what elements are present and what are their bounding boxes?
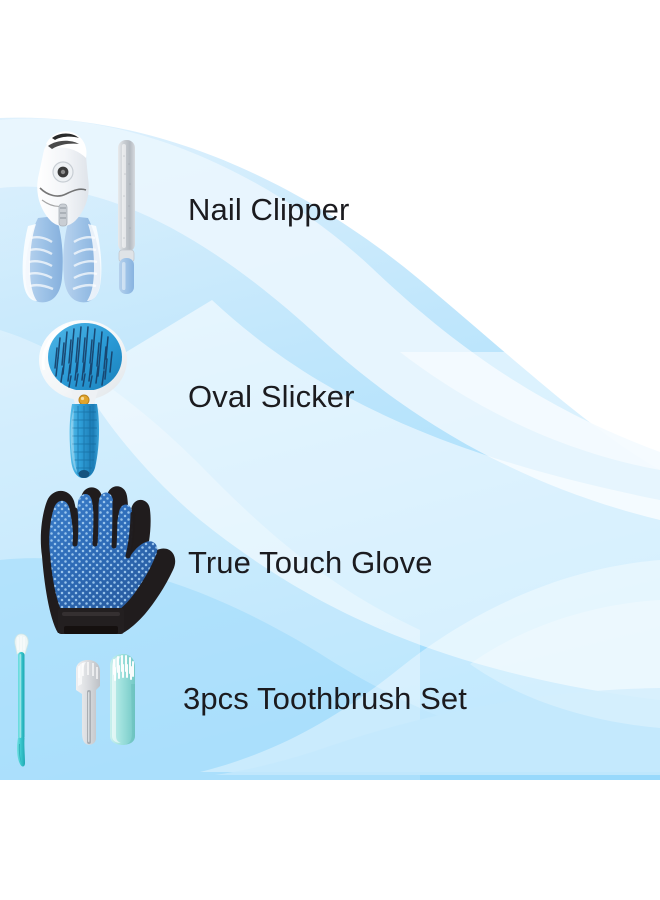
feature-row-toothbrush-set: 3pcs Toothbrush Set <box>0 628 660 770</box>
finger-toothbrush-grey <box>76 660 100 745</box>
nail-clipper-tool <box>23 131 102 302</box>
feature-label-oval-slicker: Oval Slicker <box>188 381 355 414</box>
feature-label-nail-clipper: Nail Clipper <box>188 194 349 227</box>
slicker-release-button <box>79 395 89 405</box>
feature-row-oval-slicker: Oval Slicker <box>0 316 660 478</box>
long-toothbrush <box>15 634 28 767</box>
feature-row-nail-clipper: Nail Clipper <box>0 118 660 303</box>
feature-label-true-touch-glove: True Touch Glove <box>188 547 433 580</box>
slicker-handle-hole <box>79 470 90 478</box>
product-feature-poster: Nail Clipper <box>0 0 660 900</box>
nail-clipper-and-file-photo <box>0 118 183 303</box>
finger-toothbrush-mint <box>110 654 135 745</box>
toothbrush-set-photo <box>0 628 183 770</box>
feature-row-true-touch-glove: True Touch Glove <box>0 482 660 645</box>
feature-label-toothbrush-set: 3pcs Toothbrush Set <box>183 683 467 716</box>
nail-file-tool <box>118 140 135 294</box>
grooming-glove-photo <box>0 482 183 645</box>
oval-slicker-brush-photo <box>0 316 183 478</box>
